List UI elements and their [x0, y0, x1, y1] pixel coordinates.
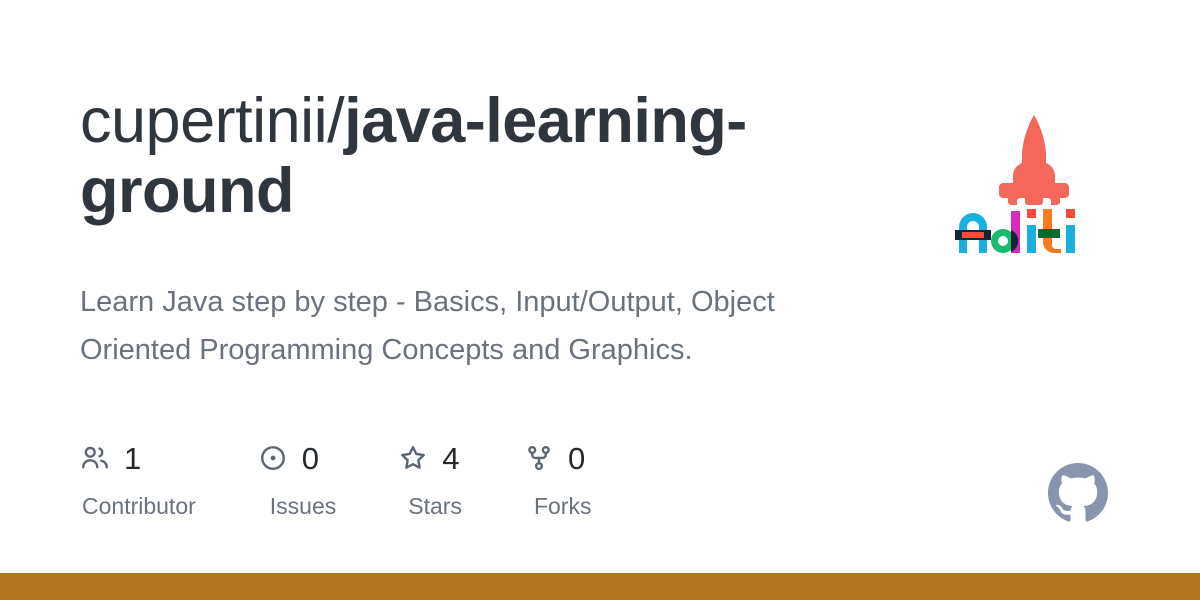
stat-forks-label: Forks	[524, 495, 592, 518]
fork-icon	[524, 443, 554, 473]
card-right-column	[780, 86, 1120, 526]
stat-forks-top: 0	[524, 438, 585, 478]
stat-contributors-label: Contributor	[80, 495, 196, 518]
stat-issues-label: Issues	[258, 495, 336, 518]
repo-name-separator: /	[327, 86, 344, 156]
stat-stars-value: 4	[442, 443, 459, 474]
stat-issues: 0 Issues	[258, 438, 336, 518]
repo-social-preview-card: cupertinii/java-learning-ground Learn Ja…	[0, 0, 1200, 600]
stat-contributors-top: 1	[80, 438, 141, 478]
stat-contributors: 1 Contributor	[80, 438, 196, 518]
stat-stars-top: 4	[398, 438, 459, 478]
aditi-wordmark	[955, 209, 1075, 253]
repo-stats-row: 1 Contributor 0 I	[80, 438, 780, 518]
stat-forks-value: 0	[568, 443, 585, 474]
card-content: cupertinii/java-learning-ground Learn Ja…	[0, 0, 1200, 573]
card-left-column: cupertinii/java-learning-ground Learn Ja…	[80, 86, 780, 518]
bottom-accent-bar	[0, 573, 1200, 600]
page-title: cupertinii/java-learning-ground	[80, 86, 780, 226]
repo-owner: cupertinii	[80, 86, 327, 156]
stat-stars: 4 Stars	[398, 438, 462, 518]
issue-opened-icon	[258, 443, 288, 473]
repo-description: Learn Java step by step - Basics, Input/…	[80, 278, 780, 374]
aditi-rocket-logo	[948, 101, 1108, 261]
stat-forks: 0 Forks	[524, 438, 592, 518]
stat-stars-label: Stars	[398, 495, 462, 518]
stat-contributors-value: 1	[124, 443, 141, 474]
stat-issues-top: 0	[258, 438, 319, 478]
rocket-icon	[999, 115, 1069, 205]
star-icon	[398, 443, 428, 473]
avatar	[948, 101, 1108, 261]
stat-issues-value: 0	[302, 443, 319, 474]
people-icon	[80, 443, 110, 473]
github-octocat-icon	[1048, 463, 1108, 523]
